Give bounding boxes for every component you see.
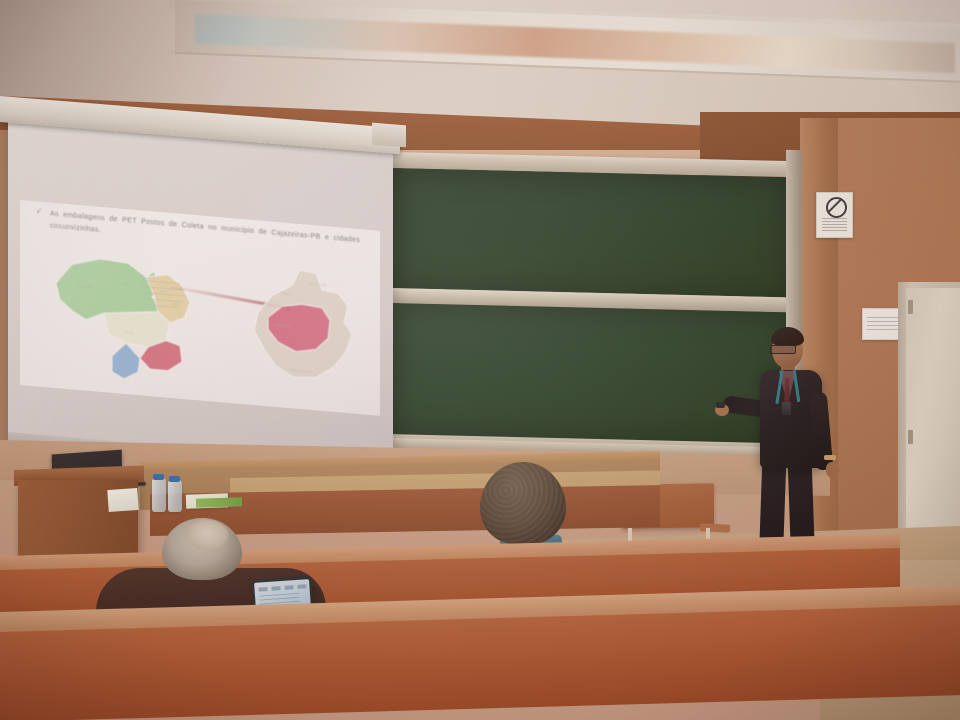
lanyard-badge — [782, 402, 791, 415]
presenter-hair — [771, 327, 804, 346]
lectern-papers — [107, 488, 138, 512]
svg-text:Seridó: Seridó — [280, 291, 290, 296]
door-hinge-top-icon — [908, 300, 913, 314]
tablet-ui-toolbar — [258, 584, 306, 591]
sign-text-lines — [822, 218, 847, 232]
svg-text:MG: MG — [152, 352, 157, 356]
bottle-cap-1 — [153, 474, 164, 480]
paraiba-map: SeridóRio Grande CajazeirasJoão Pessoa — [238, 257, 368, 408]
slide-bullet-icon: ✓ — [36, 206, 43, 216]
map-callout-lines — [140, 272, 210, 320]
no-smoking-sign — [816, 192, 853, 238]
eyeglasses-icon — [770, 345, 796, 354]
notice-text-lines — [867, 317, 901, 333]
bottle-cap-2 — [169, 476, 180, 482]
no-smoking-icon — [826, 197, 847, 218]
attendee-center-hair-texture — [480, 462, 566, 544]
svg-text:Goiás: Goiás — [126, 330, 134, 335]
water-bottle-2 — [168, 480, 182, 512]
svg-text:Pará: Pará — [124, 282, 131, 287]
desk-green-folder — [196, 497, 242, 508]
water-bottle-1 — [152, 478, 166, 512]
projected-slide: ✓ As embalagens de PET Postos de Coleta … — [20, 200, 380, 416]
screen-housing-cap — [372, 123, 406, 148]
wristwatch — [824, 455, 836, 460]
bench-chair-arm — [700, 523, 730, 533]
door-hinge-mid-icon — [908, 430, 913, 444]
upper-chalkboard — [392, 168, 790, 297]
attendee-left-bald-spot — [186, 520, 228, 550]
lecture-hall-photo: ✓ As embalagens de PET Postos de Coleta … — [0, 0, 960, 720]
lower-chalkboard — [390, 303, 790, 445]
presentation-clicker[interactable] — [716, 402, 725, 408]
